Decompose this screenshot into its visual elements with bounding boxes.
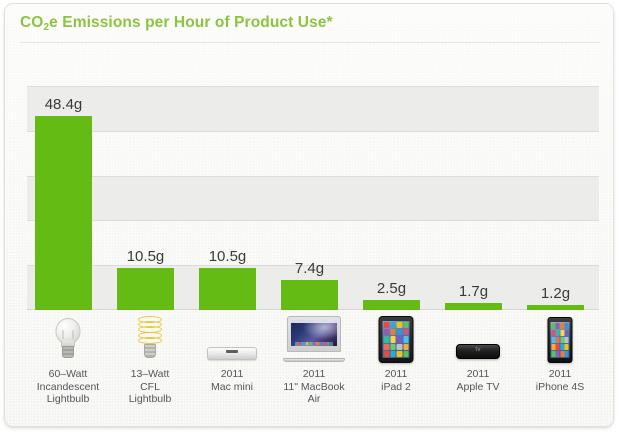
chart-plot-area: 48.4g10.5g10.5g7.4g2.5g1.7g1.2g	[27, 86, 599, 310]
bar[interactable]	[363, 300, 420, 310]
product-label-line: Apple TV	[437, 381, 519, 394]
bar-slot: 10.5g	[109, 86, 191, 310]
bar-value-label: 1.7g	[437, 283, 510, 300]
bar[interactable]	[527, 305, 584, 310]
bar-series: 48.4g10.5g10.5g7.4g2.5g1.7g1.2g	[27, 86, 599, 310]
product-label-line: 2011	[191, 368, 273, 381]
product-column[interactable]: 60–WattIncandescentLightbulb	[27, 312, 109, 422]
bar[interactable]	[199, 268, 256, 310]
bar-slot: 1.7g	[437, 86, 519, 310]
bar-value-label: 7.4g	[273, 260, 346, 277]
page-title-rest: e Emissions per Hour of Product Use*	[49, 14, 333, 31]
bar-value-label: 48.4g	[27, 96, 100, 113]
product-label-line: Incandescent	[27, 381, 109, 394]
mac-mini-icon	[191, 312, 273, 364]
product-label-line: iPhone 4S	[519, 381, 601, 394]
screenshot-root: CO2e Emissions per Hour of Product Use* …	[0, 0, 618, 432]
page-title-subscript: 2	[43, 22, 49, 33]
product-label-line: 11" MacBook	[273, 381, 355, 394]
product-label-line: 2011	[355, 368, 437, 381]
product-label: 60–WattIncandescentLightbulb	[27, 368, 109, 406]
bar-slot: 10.5g	[191, 86, 273, 310]
product-label-line: 2011	[273, 368, 355, 381]
macbook-air-icon	[273, 312, 355, 364]
bar-value-label: 10.5g	[109, 248, 182, 265]
product-label-line: 60–Watt	[27, 368, 109, 381]
product-label: 2011Mac mini	[191, 368, 273, 393]
bar-value-label: 1.2g	[519, 285, 592, 302]
bar[interactable]	[445, 303, 502, 310]
bar-value-label: 10.5g	[191, 248, 264, 265]
bar-slot: 48.4g	[27, 86, 109, 310]
bar-slot: 2.5g	[355, 86, 437, 310]
product-column[interactable]: tv2011Apple TV	[437, 312, 519, 422]
bar[interactable]	[281, 280, 338, 310]
product-label-line: 2011	[437, 368, 519, 381]
product-label: 2011iPhone 4S	[519, 368, 601, 393]
incandescent-lightbulb-icon	[27, 312, 109, 364]
product-label: 2011Apple TV	[437, 368, 519, 393]
product-axis: 60–WattIncandescentLightbulb13–WattCFLLi…	[27, 312, 599, 422]
bar[interactable]	[117, 268, 174, 310]
product-column[interactable]: 201111" MacBookAir	[273, 312, 355, 422]
product-column[interactable]: 2011iPhone 4S	[519, 312, 601, 422]
bar-value-label: 2.5g	[355, 280, 428, 297]
product-label: 2011iPad 2	[355, 368, 437, 393]
bar-slot: 7.4g	[273, 86, 355, 310]
iphone-icon	[519, 312, 601, 364]
product-column[interactable]: 13–WattCFLLightbulb	[109, 312, 191, 422]
product-label-line: Mac mini	[191, 381, 273, 394]
product-column[interactable]: 2011iPad 2	[355, 312, 437, 422]
product-label-line: Air	[273, 393, 355, 406]
product-label-line: iPad 2	[355, 381, 437, 394]
product-label-line: 13–Watt	[109, 368, 191, 381]
product-label: 201111" MacBookAir	[273, 368, 355, 406]
page-title: CO2e Emissions per Hour of Product Use*	[20, 14, 333, 32]
product-column[interactable]: 2011Mac mini	[191, 312, 273, 422]
bar[interactable]	[35, 116, 92, 310]
page-title-prefix: CO	[20, 14, 43, 31]
ipad-icon	[355, 312, 437, 364]
apple-tv-icon: tv	[437, 312, 519, 364]
product-label-line: Lightbulb	[109, 393, 191, 406]
product-label-line: 2011	[519, 368, 601, 381]
product-label-line: Lightbulb	[27, 393, 109, 406]
product-label-line: CFL	[109, 381, 191, 394]
product-label: 13–WattCFLLightbulb	[109, 368, 191, 406]
title-divider	[20, 42, 600, 43]
cfl-lightbulb-icon	[109, 312, 191, 364]
chart-card: CO2e Emissions per Hour of Product Use* …	[4, 3, 614, 427]
bar-slot: 1.2g	[519, 86, 601, 310]
